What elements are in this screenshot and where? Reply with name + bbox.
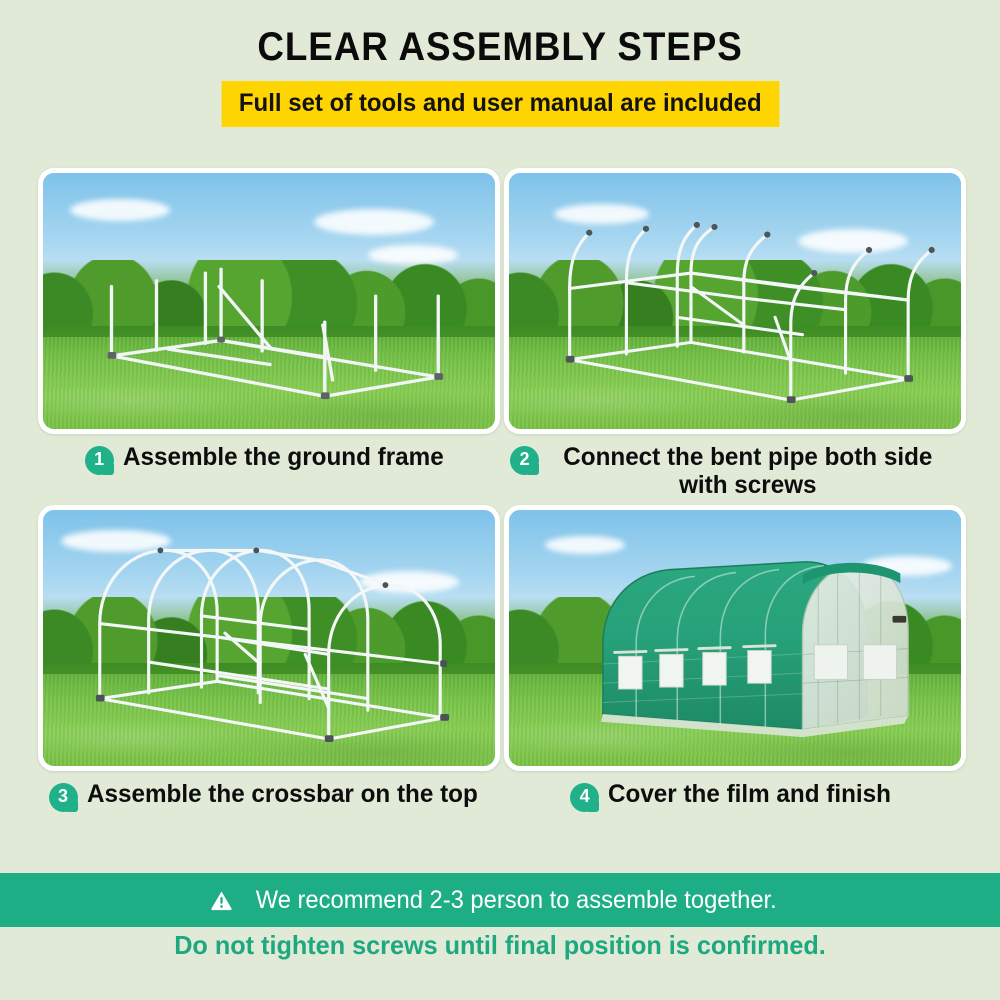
subtitle-banner: Full set of tools and user manual are in… (221, 81, 778, 127)
step-3-photo (38, 505, 500, 771)
step-number-badge-1: 1 (85, 446, 114, 475)
crossbar-frame-illustration (43, 510, 495, 766)
step-number-4: 4 (580, 786, 590, 807)
recommendation-banner: We recommend 2-3 person to assemble toge… (0, 873, 1000, 927)
page-header: CLEAR ASSEMBLY STEPS Full set of tools a… (0, 0, 1000, 127)
step-card-4: 4 Cover the film and finish (504, 505, 966, 812)
step-card-1: 1 Assemble the ground frame (38, 168, 500, 499)
footer-note: Do not tighten screws until final positi… (15, 932, 985, 958)
finished-greenhouse-illustration (509, 510, 961, 766)
step-number-1: 1 (94, 449, 104, 470)
step-number-badge-2: 2 (510, 446, 539, 475)
step-4-caption-text: Cover the film and finish (608, 780, 891, 808)
step-4-photo (504, 505, 966, 771)
step-3-caption-text: Assemble the crossbar on the top (87, 780, 478, 808)
step-number-badge-4: 4 (570, 783, 599, 812)
bent-pipe-frame-illustration (509, 173, 961, 429)
step-3-caption: 3 Assemble the crossbar on the top (38, 780, 500, 812)
step-4-caption: 4 Cover the film and finish (504, 780, 966, 812)
step-2-photo (504, 168, 966, 434)
step-2-caption: 2 Connect the bent pipe both side with s… (504, 443, 966, 499)
step-card-2: 2 Connect the bent pipe both side with s… (504, 168, 966, 499)
step-1-photo (38, 168, 500, 434)
step-1-caption: 1 Assemble the ground frame (38, 443, 500, 475)
page-title: CLEAR ASSEMBLY STEPS (40, 26, 960, 68)
step-card-3: 3 Assemble the crossbar on the top (38, 505, 500, 812)
assembly-steps-grid: 1 Assemble the ground frame (38, 168, 966, 812)
step-2-caption-text: Connect the bent pipe both side with scr… (548, 443, 948, 499)
warning-triangle-icon (210, 889, 233, 912)
step-number-2: 2 (519, 449, 529, 470)
subtitle-banner-wrap: Full set of tools and user manual are in… (0, 81, 1000, 127)
step-number-3: 3 (58, 786, 68, 807)
ground-frame-illustration (43, 173, 495, 429)
step-number-badge-3: 3 (49, 783, 78, 812)
recommendation-text: We recommend 2-3 person to assemble toge… (255, 888, 776, 913)
step-1-caption-text: Assemble the ground frame (123, 443, 444, 471)
